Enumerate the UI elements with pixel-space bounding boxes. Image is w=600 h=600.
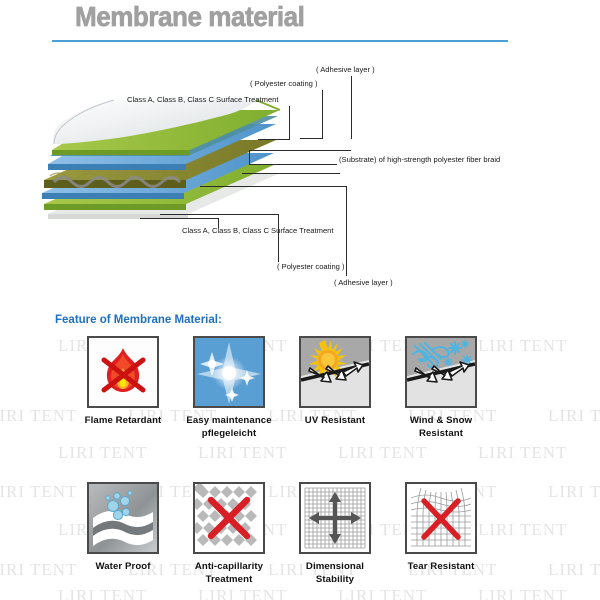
feature-icon-box: [193, 482, 265, 554]
feature-icon-box: [299, 336, 371, 408]
feature-label: UV Resistant: [275, 414, 395, 427]
feature-flame-retardant[interactable]: Flame Retardant: [63, 336, 183, 427]
title-divider: [52, 40, 508, 42]
feature-wind-snow-resistant[interactable]: Wind & Snow Resistant: [381, 336, 501, 440]
feature-label: Tear Resistant: [381, 560, 501, 573]
page-header: Membrane material: [0, 0, 600, 46]
page-title: Membrane material: [75, 1, 304, 33]
grid-tear-red-cross-icon: [407, 484, 475, 552]
feature-dimensional-stability[interactable]: Dimensional Stability: [275, 482, 395, 586]
feature-label-line1: Dimensional: [275, 560, 395, 573]
feature-label: Flame Retardant: [63, 414, 183, 427]
features-grid: Flame Retardant: [0, 0, 600, 600]
feature-water-proof[interactable]: Water Proof: [63, 482, 183, 573]
feature-icon-box: [299, 482, 371, 554]
feature-label-line2: pflegeleicht: [169, 427, 289, 440]
feature-label-line1: Easy maintenance: [169, 414, 289, 427]
feature-icon-box: [87, 336, 159, 408]
feature-label-line1: Wind & Snow: [381, 414, 501, 427]
feature-anti-capillarity[interactable]: Anti-capillarity Treatment: [169, 482, 289, 586]
weave-red-cross-icon: [195, 484, 263, 552]
feature-label: Dimensional Stability: [275, 560, 395, 586]
feature-icon-box: [405, 482, 477, 554]
feature-easy-maintenance[interactable]: Easy maintenance pflegeleicht: [169, 336, 289, 440]
flame-crossed-icon: [89, 338, 157, 406]
feature-label-line2: Treatment: [169, 573, 289, 586]
feature-label: Anti-capillarity Treatment: [169, 560, 289, 586]
wind-snowflake-deflect-icon: [407, 338, 475, 406]
feature-uv-resistant[interactable]: UV Resistant: [275, 336, 395, 427]
features-heading: Feature of Membrane Material:: [55, 314, 222, 326]
page-root: Membrane material: [0, 0, 600, 600]
feature-label: Easy maintenance pflegeleicht: [169, 414, 289, 440]
feature-tear-resistant[interactable]: Tear Resistant: [381, 482, 501, 573]
feature-icon-box: [193, 336, 265, 408]
sparkle-shine-icon: [195, 338, 263, 406]
feature-label-line2: Resistant: [381, 427, 501, 440]
feature-label: Water Proof: [63, 560, 183, 573]
feature-icon-box: [87, 482, 159, 554]
feature-icon-box: [405, 336, 477, 408]
sun-rays-deflect-icon: [301, 338, 369, 406]
feature-label: Wind & Snow Resistant: [381, 414, 501, 440]
water-droplets-fabric-icon: [89, 484, 157, 552]
feature-label-line2: Stability: [275, 573, 395, 586]
grid-four-arrows-icon: [301, 484, 369, 552]
feature-label-line1: Anti-capillarity: [169, 560, 289, 573]
